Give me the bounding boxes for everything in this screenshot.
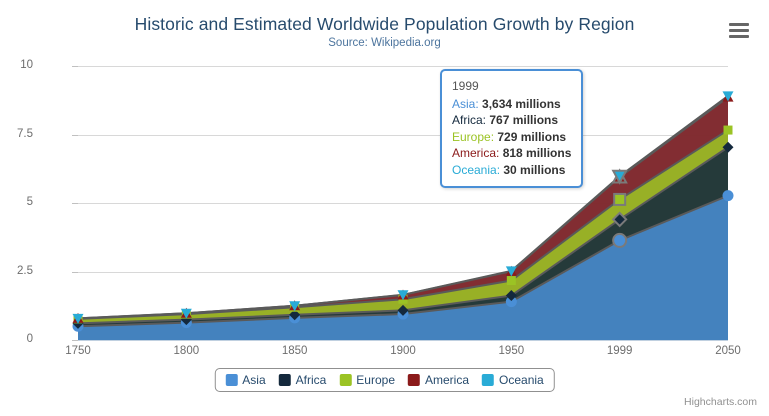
legend-swatch-asia <box>225 374 237 386</box>
marker-asia-1999[interactable] <box>613 234 626 247</box>
legend-item-africa[interactable]: Africa <box>279 373 327 387</box>
y-axis-tick-mark <box>72 340 78 341</box>
tooltip-row: America: 818 millions <box>452 145 571 162</box>
x-axis-tick-label: 1800 <box>156 345 216 357</box>
y-axis-tick-mark <box>72 203 78 204</box>
legend-label-europe: Europe <box>356 373 395 387</box>
legend-swatch-america <box>408 374 420 386</box>
legend-label-oceania: Oceania <box>499 373 544 387</box>
tooltip-row: Europe: 729 millions <box>452 129 571 146</box>
menu-bar-1 <box>729 23 749 26</box>
tooltip-series-name: Asia: <box>452 97 482 111</box>
marker-africa-2050[interactable] <box>723 142 734 153</box>
legend-label-asia: Asia <box>242 373 265 387</box>
series-tooltip: 1999 Asia: 3,634 millionsAfrica: 767 mil… <box>440 69 583 188</box>
y-axis-tick-mark <box>72 135 78 136</box>
chart-subtitle: Source: Wikipedia.org <box>0 37 769 49</box>
x-axis-tick-label: 1999 <box>590 345 650 357</box>
tooltip-series-name: Oceania: <box>452 163 503 177</box>
gridline <box>78 340 728 341</box>
x-axis-tick-label: 1850 <box>265 345 325 357</box>
x-axis-tick-label: 1900 <box>373 345 433 357</box>
tooltip-series-name: Europe: <box>452 130 497 144</box>
legend-item-asia[interactable]: Asia <box>225 373 265 387</box>
tooltip-row: Asia: 3,634 millions <box>452 96 571 113</box>
x-axis-tick-label: 1750 <box>48 345 108 357</box>
legend-item-europe[interactable]: Europe <box>339 373 395 387</box>
y-axis-tick-mark <box>72 66 78 67</box>
x-axis-tick-label: 2050 <box>698 345 758 357</box>
tooltip-series-name: America: <box>452 146 503 160</box>
legend-label-africa: Africa <box>296 373 327 387</box>
y-axis-tick-label: 2.5 <box>0 265 33 277</box>
credits-label[interactable]: Highcharts.com <box>684 396 757 408</box>
legend-item-america[interactable]: America <box>408 373 469 387</box>
tooltip-rows: Asia: 3,634 millionsAfrica: 767 millions… <box>452 96 571 179</box>
legend-label-america: America <box>425 373 469 387</box>
legend-swatch-oceania <box>482 374 494 386</box>
tooltip-series-value: 818 millions <box>503 146 572 160</box>
tooltip-series-value: 729 millions <box>497 130 566 144</box>
tooltip-header: 1999 <box>452 78 571 96</box>
marker-layer <box>78 66 728 340</box>
y-axis-tick-mark <box>72 272 78 273</box>
legend-swatch-africa <box>279 374 291 386</box>
plot-area <box>78 66 728 340</box>
tooltip-row: Oceania: 30 millions <box>452 162 571 179</box>
menu-bar-3 <box>729 35 749 38</box>
x-axis-tick-label: 1950 <box>481 345 541 357</box>
tooltip-series-value: 3,634 millions <box>482 97 561 111</box>
chart-title: Historic and Estimated Worldwide Populat… <box>0 14 769 35</box>
y-axis-tick-label: 10 <box>0 59 33 71</box>
marker-europe-1950[interactable] <box>507 276 516 285</box>
hamburger-menu-icon[interactable] <box>727 18 755 43</box>
tooltip-series-name: Africa: <box>452 113 489 127</box>
marker-africa-1999[interactable] <box>613 213 626 226</box>
menu-bar-2 <box>729 29 749 32</box>
y-axis-tick-label: 5 <box>0 196 33 208</box>
tooltip-row: Africa: 767 millions <box>452 112 571 129</box>
marker-europe-1999[interactable] <box>614 194 625 205</box>
y-axis-tick-label: 7.5 <box>0 128 33 140</box>
highcharts-container: Historic and Estimated Worldwide Populat… <box>0 0 769 416</box>
marker-europe-2050[interactable] <box>724 126 733 135</box>
legend-swatch-europe <box>339 374 351 386</box>
tooltip-series-value: 30 millions <box>503 163 565 177</box>
marker-asia-2050[interactable] <box>723 190 734 201</box>
legend-item-oceania[interactable]: Oceania <box>482 373 544 387</box>
tooltip-series-value: 767 millions <box>489 113 558 127</box>
y-axis-tick-label: 0 <box>0 333 33 345</box>
chart-legend: AsiaAfricaEuropeAmericaOceania <box>214 368 554 392</box>
